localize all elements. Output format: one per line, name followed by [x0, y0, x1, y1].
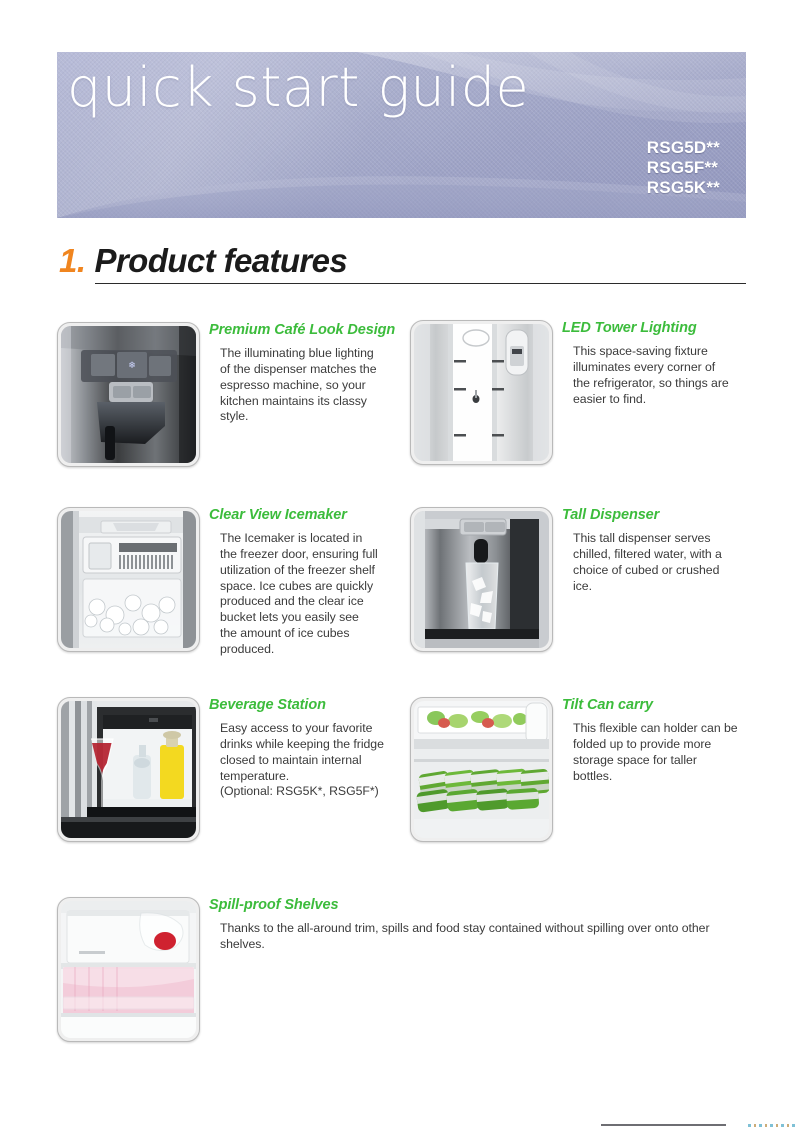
feature-body-line: utilization of the freezer shelf — [220, 563, 397, 579]
feature-block-premium-cafe-look-design: ❄ Premium Café Look Design The illuminat… — [57, 322, 397, 467]
dispenser-blue-lighting-photo: ❄ — [61, 326, 196, 463]
feature-body: This space-saving fixture illuminates ev… — [562, 344, 750, 407]
feature-body-line: kitchen maintains its classy — [220, 394, 397, 410]
feature-body-line: easier to find. — [573, 392, 750, 408]
footer-divider — [601, 1124, 726, 1126]
feature-body-line: Easy access to your favorite — [220, 721, 397, 737]
feature-text: Tall Dispenser This tall dispenser serve… — [553, 507, 750, 652]
feature-text: Clear View Icemaker The Icemaker is loca… — [200, 507, 397, 657]
feature-body-line: temperature. — [220, 769, 397, 785]
feature-body: This tall dispenser serves chilled, filt… — [562, 531, 750, 594]
feature-body-line: storage space for taller — [573, 753, 750, 769]
feature-heading: Tall Dispenser — [562, 507, 750, 524]
feature-body-line: ice. — [573, 579, 750, 595]
feature-text: Beverage Station Easy access to your fav… — [200, 697, 397, 842]
feature-body-line: closed to maintain internal — [220, 753, 397, 769]
tilt-can-holder-photo — [414, 701, 549, 838]
feature-body-line: style. — [220, 409, 397, 425]
feature-block-tilt-can-carry: Tilt Can carry This flexible can holder … — [410, 697, 750, 842]
feature-body-line: the freezer door, ensuring full — [220, 547, 397, 563]
feature-block-clear-view-icemaker: Clear View Icemaker The Icemaker is loca… — [57, 507, 397, 657]
feature-text: Spill-proof Shelves Thanks to the all-ar… — [200, 897, 739, 1042]
feature-body: The illuminating blue lighting of the di… — [209, 346, 397, 425]
footer-marker — [748, 1124, 796, 1127]
svg-text:❄: ❄ — [128, 361, 136, 371]
feature-body-line: bucket lets you easily see — [220, 610, 397, 626]
feature-body-line: space. Ice cubes are quickly — [220, 579, 397, 595]
led-tower-interior-photo — [414, 324, 549, 461]
feature-text: Tilt Can carry This flexible can holder … — [553, 697, 750, 842]
feature-heading: Beverage Station — [209, 697, 397, 714]
feature-heading: Clear View Icemaker — [209, 507, 397, 524]
feature-body-line: espresso machine, so your — [220, 378, 397, 394]
feature-thumbnail: ❄ — [57, 322, 200, 467]
feature-grid: ❄ Premium Café Look Design The illuminat… — [0, 0, 802, 1134]
feature-body-line: the amount of ice cubes — [220, 626, 397, 642]
feature-body-line: shelves. — [220, 937, 739, 953]
feature-heading: Tilt Can carry — [562, 697, 750, 714]
tall-dispenser-glass-photo — [414, 511, 549, 648]
feature-body-line: drinks while keeping the fridge — [220, 737, 397, 753]
feature-body-line: chilled, filtered water, with a — [573, 547, 750, 563]
feature-body-line: This flexible can holder can be — [573, 721, 750, 737]
feature-body: Thanks to the all-around trim, spills an… — [209, 921, 739, 952]
feature-body-line: choice of cubed or crushed — [573, 563, 750, 579]
feature-body-line: (Optional: RSG5K*, RSG5F*) — [220, 784, 397, 800]
feature-thumbnail — [57, 897, 200, 1042]
feature-thumbnail — [57, 697, 200, 842]
feature-body: This flexible can holder can be folded u… — [562, 721, 750, 784]
feature-block-beverage-station: Beverage Station Easy access to your fav… — [57, 697, 397, 842]
feature-body-line: This space-saving fixture — [573, 344, 750, 360]
feature-body-line: illuminates every corner of — [573, 360, 750, 376]
feature-thumbnail — [57, 507, 200, 652]
feature-text: Premium Café Look Design The illuminatin… — [200, 322, 397, 467]
feature-body-line: of the dispenser matches the — [220, 362, 397, 378]
feature-body-line: produced. — [220, 642, 397, 658]
feature-text: LED Tower Lighting This space-saving fix… — [553, 320, 750, 465]
feature-body-line: folded up to provide more — [573, 737, 750, 753]
feature-thumbnail — [410, 697, 553, 842]
feature-body-line: This tall dispenser serves — [573, 531, 750, 547]
feature-body: The Icemaker is located in the freezer d… — [209, 531, 397, 657]
feature-thumbnail — [410, 320, 553, 465]
feature-block-led-tower-lighting: LED Tower Lighting This space-saving fix… — [410, 320, 750, 465]
feature-body-line: The illuminating blue lighting — [220, 346, 397, 362]
feature-body-line: The Icemaker is located in — [220, 531, 397, 547]
feature-thumbnail — [410, 507, 553, 652]
feature-body: Easy access to your favorite drinks whil… — [209, 721, 397, 800]
icemaker-ice-bucket-photo — [61, 511, 196, 648]
feature-heading: Spill-proof Shelves — [209, 897, 739, 914]
feature-heading: LED Tower Lighting — [562, 320, 750, 337]
feature-block-spill-proof-shelves: Spill-proof Shelves Thanks to the all-ar… — [57, 897, 747, 1042]
feature-body-line: Thanks to the all-around trim, spills an… — [220, 921, 739, 937]
feature-heading: Premium Café Look Design — [209, 322, 397, 339]
feature-body-line: the refrigerator, so things are — [573, 376, 750, 392]
feature-block-tall-dispenser: Tall Dispenser This tall dispenser serve… — [410, 507, 750, 652]
beverage-station-wine-glass-photo — [61, 701, 196, 838]
feature-body-line: bottles. — [573, 769, 750, 785]
feature-body-line: produced and the clear ice — [220, 594, 397, 610]
spill-proof-shelf-photo — [61, 901, 196, 1038]
